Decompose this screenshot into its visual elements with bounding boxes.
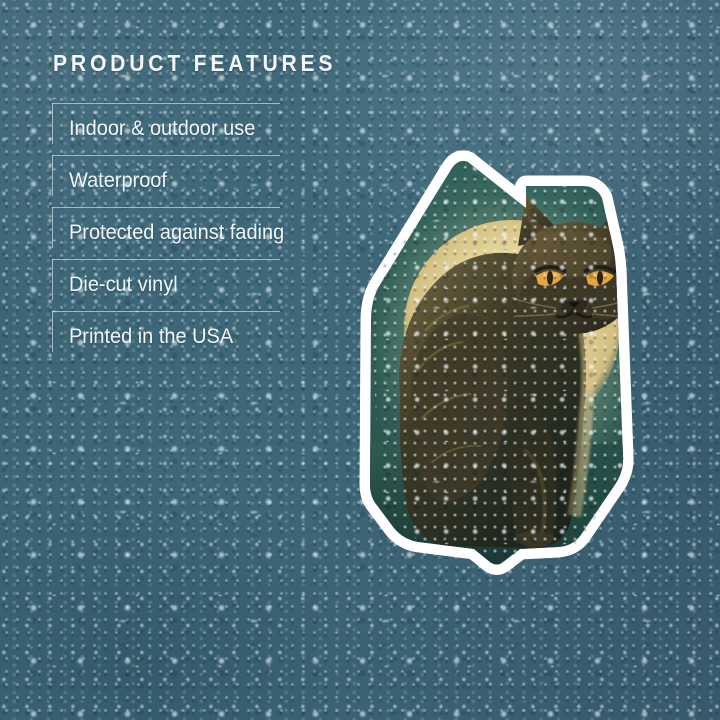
- feature-list: Indoor & outdoor use Waterproof Protecte…: [52, 103, 352, 363]
- list-item: Die-cut vinyl: [52, 259, 352, 311]
- feature-label: Protected against fading: [69, 207, 338, 259]
- product-sticker: [340, 150, 652, 570]
- features-panel: PRODUCT FEATURES Indoor & outdoor use Wa…: [52, 52, 352, 363]
- page-title: PRODUCT FEATURES: [53, 52, 328, 75]
- feature-label: Die-cut vinyl: [69, 259, 338, 311]
- product-features-page: PRODUCT FEATURES Indoor & outdoor use Wa…: [0, 0, 720, 720]
- list-item: Indoor & outdoor use: [52, 103, 352, 155]
- list-item: Waterproof: [52, 155, 352, 207]
- list-item: Printed in the USA: [52, 311, 352, 363]
- list-item: Protected against fading: [52, 207, 352, 259]
- feature-label: Waterproof: [69, 155, 338, 207]
- feature-label: Indoor & outdoor use: [69, 103, 338, 155]
- feature-label: Printed in the USA: [69, 311, 338, 363]
